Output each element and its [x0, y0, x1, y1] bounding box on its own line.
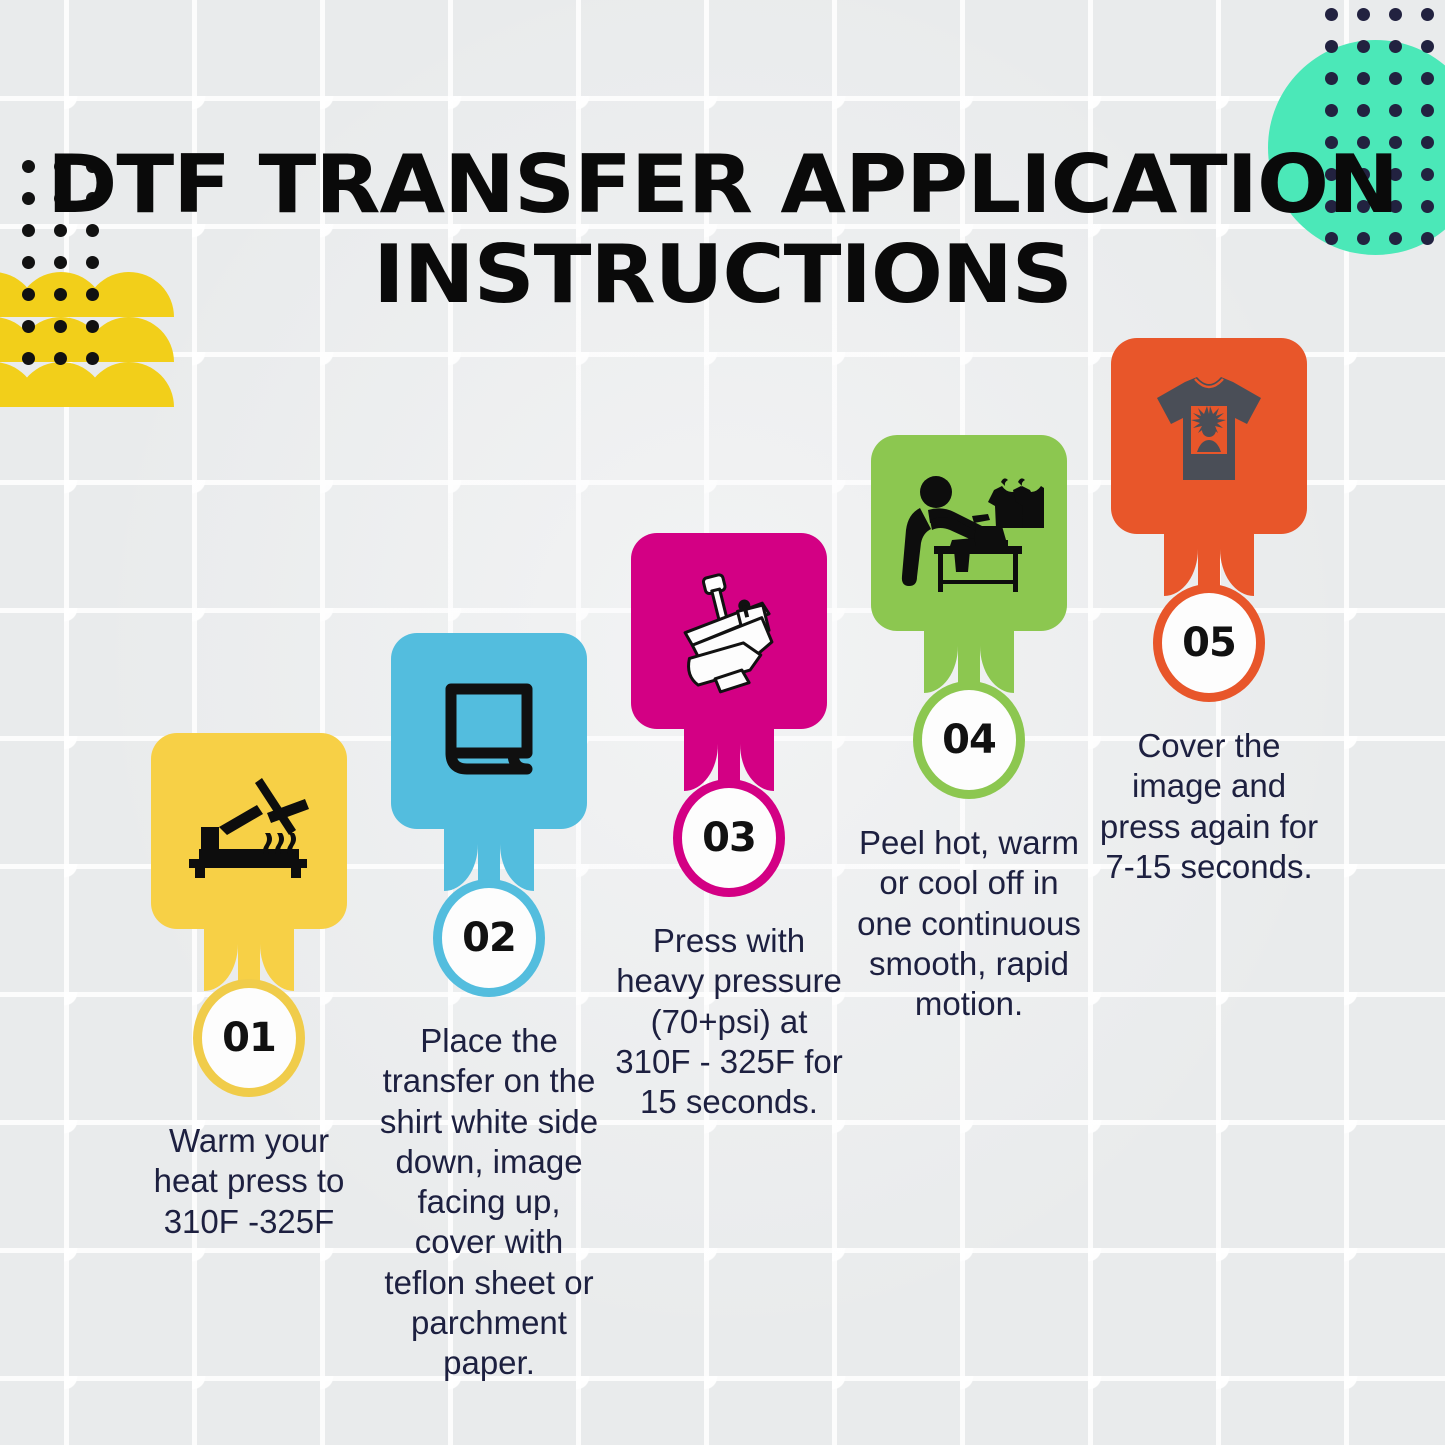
step-02-caption: Place the transfer on the shirt white si…: [371, 1021, 607, 1383]
step-01-number: 01: [222, 1015, 276, 1061]
step-05-number-badge: 05: [1153, 584, 1265, 702]
step-05[interactable]: 05 Cover the image and press again for 7…: [1091, 338, 1327, 887]
heat-press-open-icon: [179, 771, 319, 891]
step-04-number: 04: [942, 717, 996, 763]
transfer-sheet-icon: [429, 671, 549, 791]
step-02-tile: [391, 633, 587, 829]
step-03-number-badge: 03: [673, 779, 785, 897]
step-01-tile: [151, 733, 347, 929]
step-01-number-badge: 01: [193, 979, 305, 1097]
step-05-tile: [1111, 338, 1307, 534]
step-03[interactable]: 03 Press with heavy pressure (70+psi) at…: [611, 533, 847, 1122]
step-04-tile: [871, 435, 1067, 631]
step-04-caption: Peel hot, warm or cool off in one contin…: [851, 823, 1087, 1024]
step-05-number: 05: [1182, 620, 1236, 666]
step-04-connector: 04: [851, 629, 1087, 807]
page-title-line-1: DTF TRANSFER APPLICATION: [0, 140, 1445, 230]
step-02-connector: 02: [371, 827, 607, 1005]
heat-press-machine-icon: [664, 566, 794, 696]
step-04[interactable]: 04 Peel hot, warm or cool off in one con…: [851, 435, 1087, 1024]
page-title: DTF TRANSFER APPLICATION INSTRUCTIONS: [0, 140, 1445, 319]
step-02[interactable]: 02 Place the transfer on the shirt white…: [371, 633, 607, 1383]
person-pressing-shirt-icon: [894, 468, 1044, 598]
step-02-number: 02: [462, 915, 516, 961]
step-01-connector: 01: [131, 927, 367, 1105]
step-02-number-badge: 02: [433, 879, 545, 997]
step-01-caption: Warm your heat press to 310F -325F: [131, 1121, 367, 1242]
step-04-number-badge: 04: [913, 681, 1025, 799]
step-03-tile: [631, 533, 827, 729]
step-03-connector: 03: [611, 727, 847, 905]
printed-tshirt-icon: [1139, 366, 1279, 506]
step-05-connector: 05: [1091, 532, 1327, 710]
page-title-line-2: INSTRUCTIONS: [0, 230, 1445, 320]
step-03-caption: Press with heavy pressure (70+psi) at 31…: [611, 921, 847, 1122]
step-05-caption: Cover the image and press again for 7-15…: [1091, 726, 1327, 887]
step-01[interactable]: 01 Warm your heat press to 310F -325F: [131, 733, 367, 1242]
step-03-number: 03: [702, 815, 756, 861]
